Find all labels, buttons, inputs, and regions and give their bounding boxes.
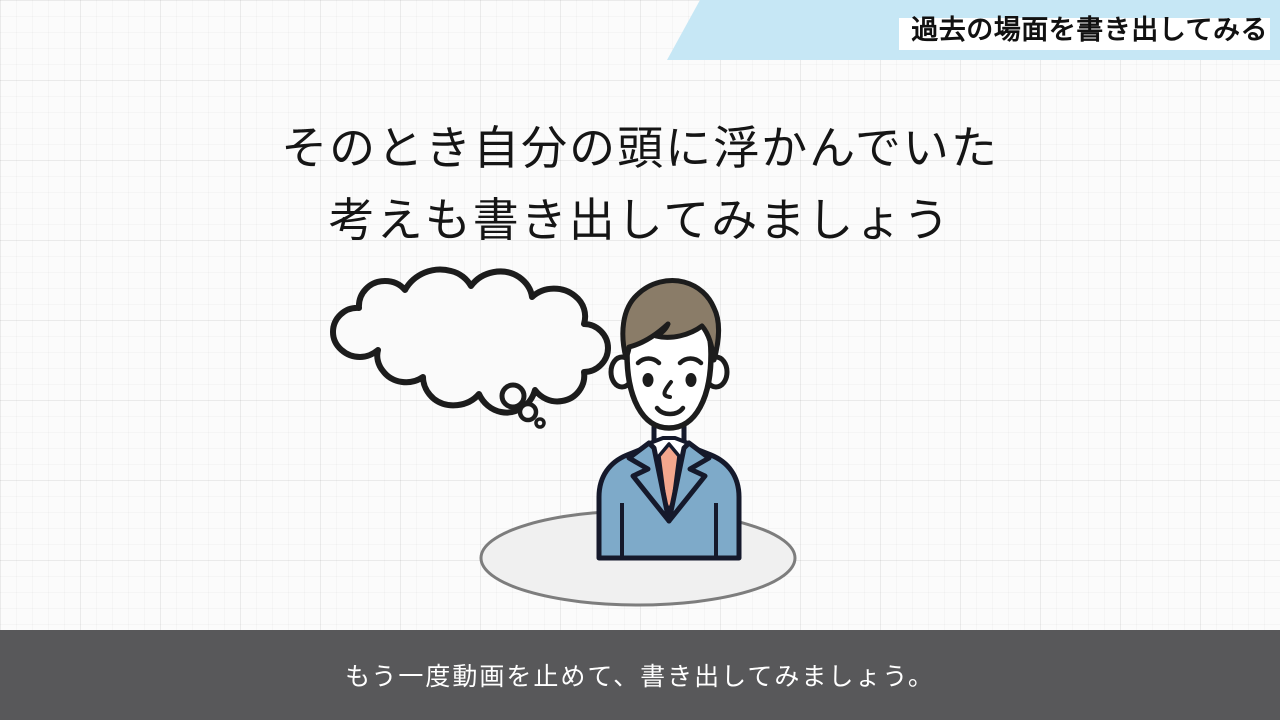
businessman-avatar-icon bbox=[599, 281, 739, 558]
slide-canvas: 過去の場面を書き出してみる そのとき自分の頭に浮かんでいた 考えも書き出してみま… bbox=[0, 0, 1280, 720]
illustration bbox=[300, 262, 840, 622]
thought-cloud-icon bbox=[333, 270, 608, 413]
heading-line-1: そのとき自分の頭に浮かんでいた bbox=[0, 112, 1280, 184]
illustration-svg bbox=[300, 262, 840, 622]
heading-line-2: 考えも書き出してみましょう bbox=[0, 184, 1280, 256]
caption-bar: もう一度動画を止めて、書き出してみましょう。 bbox=[0, 630, 1280, 720]
header-title: 過去の場面を書き出してみる bbox=[911, 17, 1268, 44]
header-title-container: 過去の場面を書き出してみる bbox=[911, 0, 1280, 60]
caption-text: もう一度動画を止めて、書き出してみましょう。 bbox=[345, 657, 935, 693]
page-heading: そのとき自分の頭に浮かんでいた 考えも書き出してみましょう bbox=[0, 112, 1280, 256]
